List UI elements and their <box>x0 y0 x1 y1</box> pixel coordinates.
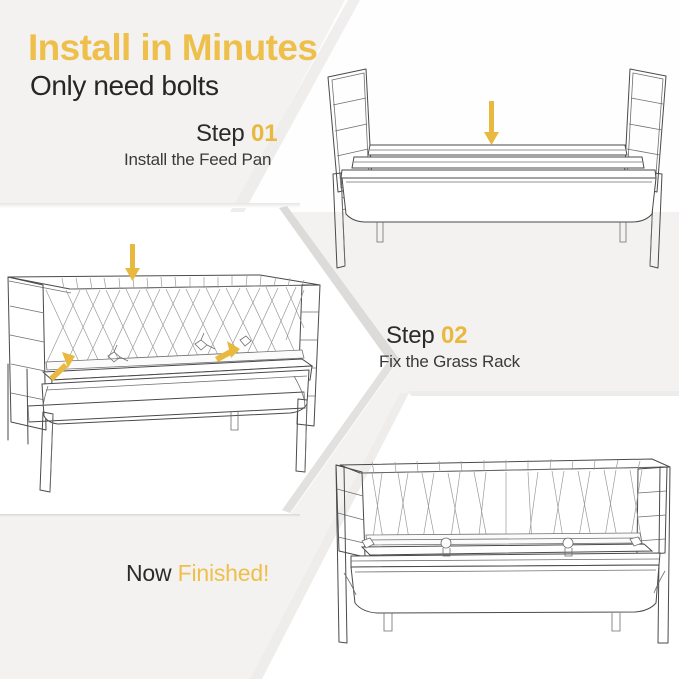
finished-highlight: Finished! <box>178 560 270 586</box>
infographic-canvas: Install in Minutes Only need bolts Step … <box>0 0 679 679</box>
page-title: Install in Minutes <box>28 27 317 69</box>
top-comb-teeth <box>372 459 640 473</box>
top-rail <box>340 459 670 473</box>
finished-prefix: Now <box>126 560 178 586</box>
center-support-legs <box>384 613 620 631</box>
step-02-heading: Step 02 <box>386 322 467 350</box>
finished-label: Now Finished! <box>126 560 269 587</box>
step-01-number: 01 <box>251 120 277 147</box>
down-arrow-icon <box>484 101 499 145</box>
step-01-caption: Install the Feed Pan <box>124 150 271 170</box>
feed-pan <box>341 157 656 222</box>
center-support-legs <box>377 222 626 242</box>
step-02-caption: Fix the Grass Rack <box>379 352 520 372</box>
step-01-heading: Step 01 <box>196 120 277 148</box>
feed-pan-trough <box>351 544 660 613</box>
left-side-panel <box>336 465 365 643</box>
page-subtitle: Only need bolts <box>30 70 219 102</box>
step-01-label: Step <box>196 120 245 147</box>
step-02-number: 02 <box>441 322 467 349</box>
illustration-step-02 <box>2 244 337 500</box>
down-arrow-icon <box>125 244 140 281</box>
rack-lower-frame <box>366 533 642 545</box>
left-side-panel <box>8 277 46 444</box>
top-rail-back <box>8 275 320 293</box>
illustration-finished <box>322 425 679 655</box>
step-02-label: Step <box>386 322 435 349</box>
illustration-step-01 <box>300 42 679 272</box>
upper-rail <box>368 145 627 155</box>
